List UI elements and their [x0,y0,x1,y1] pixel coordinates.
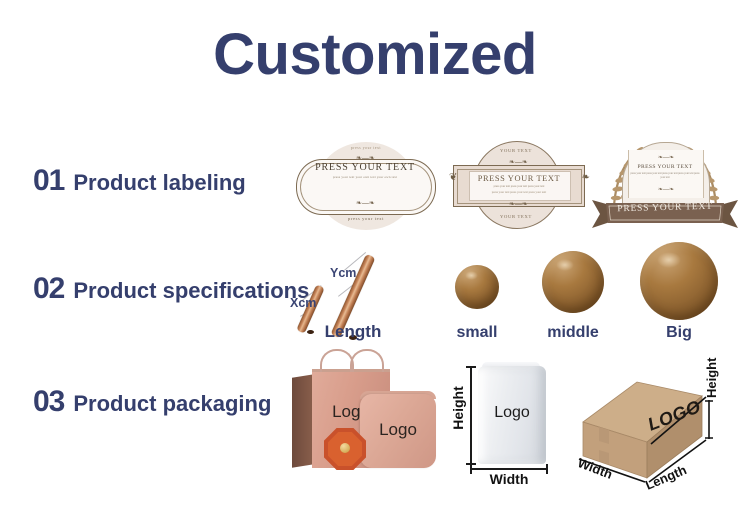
stick-long-label: Ycm [330,266,356,280]
octagon-box-emblem-icon [340,443,350,453]
row-label-product-packaging: 03 Product packaging [33,385,271,419]
page-title: Customized [0,26,750,84]
stick-short-label: Xcm [290,296,316,310]
sphere-middle [542,251,604,313]
row-number-03: 03 [33,385,64,419]
row-text-03: Product packaging [73,391,271,417]
gift-bag-side-panel [292,374,314,467]
flourish-icon: ❧—❧ [658,187,674,193]
label2-sub-text-1: press your text press your text press yo… [475,185,563,188]
label1-bottom-text: press your text [316,216,416,221]
label1-top-text: press your text [316,146,416,150]
label1-main-text: PRESS YOUR TEXT [296,162,434,173]
flourish-icon: ❧—❧ [356,200,375,207]
row-label-product-specifications: 02 Product specifications [33,272,309,306]
sticks-caption: Length [288,322,418,342]
sack-height-dimension-line [470,366,472,465]
sphere-middle-caption: middle [532,324,614,342]
label2-top-text: YOUR TEXT [473,148,559,153]
sack-width-dimension-line [470,468,548,470]
carton-height-label: Height [704,358,719,398]
row-number-02: 02 [33,272,64,306]
gift-bag-handle [350,349,384,373]
flourish-icon: ❧—❧ [356,155,375,162]
row-label-product-labeling: 01 Product labeling [33,164,246,198]
spec-sticks-length: Xcm Ycm Length [288,234,418,344]
packaging-gift-set: Logo Logo [290,362,440,480]
label2-bottom-text: YOUR TEXT [473,214,559,219]
sphere-big [640,242,718,320]
sack-width-label: Width [470,471,548,487]
packaging-carton-box: LOGO Height Width Length [575,360,750,490]
sack-logo-text: Logo [478,404,546,422]
flourish-icon: ❧ [582,173,590,183]
gift-bag-handle [320,349,354,373]
sphere-small-caption: small [444,324,510,342]
square-box-logo-text: Logo [360,420,436,440]
label1-sub-text: press your text your own text your own t… [310,175,420,179]
customized-infographic: Customized 01 Product labeling 02 Produc… [0,0,750,512]
label-sample-round-badge: YOUR TEXT ❦ ❧ ❧—❧ PRESS YOUR TEXT press … [447,141,592,231]
packaging-woven-sack: Logo Height Width [448,362,568,487]
row-number-01: 01 [33,164,64,198]
label3-sub-text: press your text press your text press yo… [628,172,702,180]
sphere-small [455,265,499,309]
label3-main-text: PRESS YOUR TEXT [622,164,708,170]
flourish-icon: ❧—❧ [509,201,528,208]
sack-height-label: Height [450,382,466,434]
flourish-icon: ❧—❧ [509,159,528,166]
label-sample-laurel-crest: ❧—❧ PRESS YOUR TEXT press your text pres… [592,138,738,233]
sphere-big-caption: Big [641,324,717,342]
row-text-02: Product specifications [73,278,309,304]
flourish-icon: ❧—❧ [658,155,674,161]
label2-sub-text-2: press your text press your text press yo… [471,190,567,194]
label2-main-text: PRESS YOUR TEXT [469,174,569,183]
row-text-01: Product labeling [73,170,245,196]
flourish-icon: ❦ [449,173,457,183]
label-sample-ornate-oval: press your text ❧—❧ PRESS YOUR TEXT pres… [296,142,436,230]
